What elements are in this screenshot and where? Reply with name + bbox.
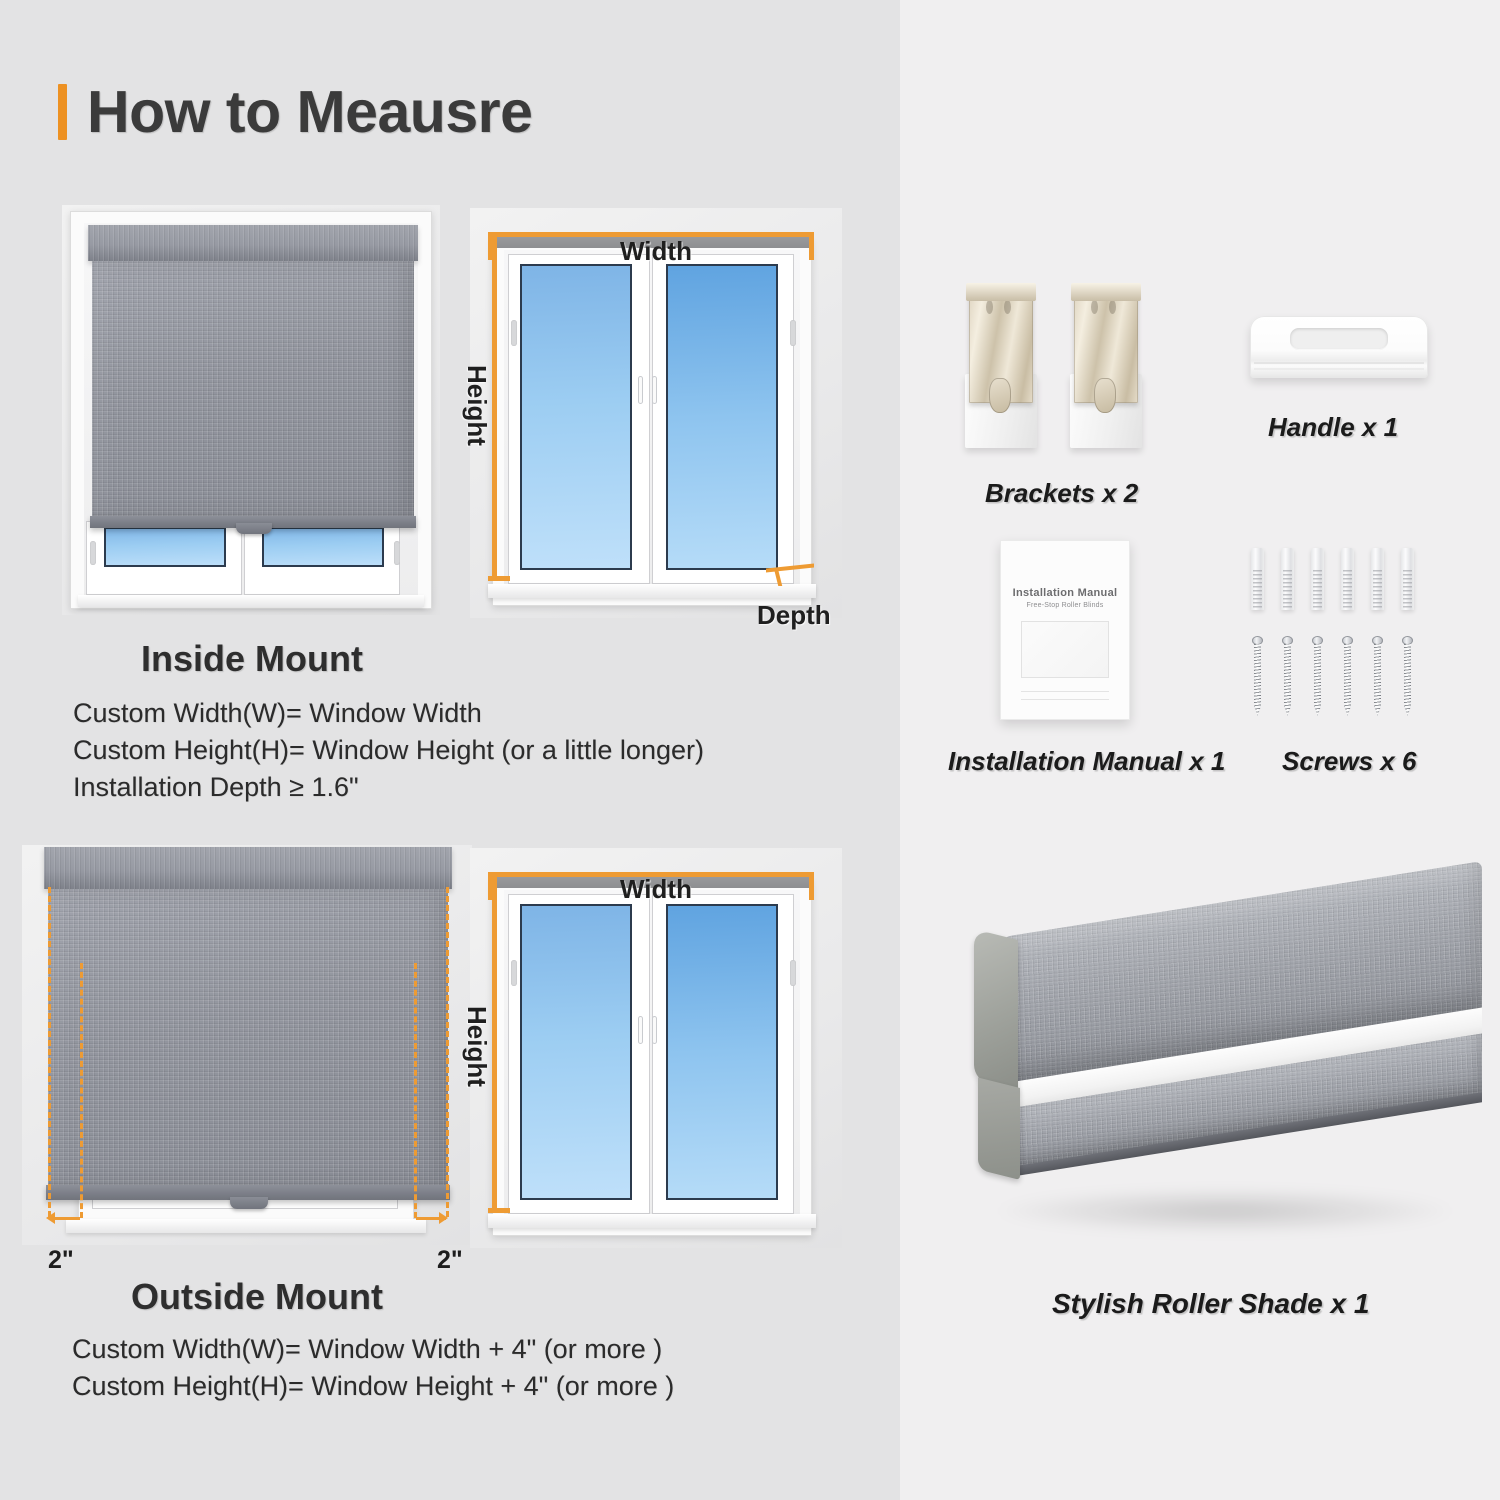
overhang-guide-right-outer (446, 887, 449, 1217)
bracket-item-1 (965, 288, 1037, 448)
manual-cover-title: Installation Manual (1001, 587, 1129, 599)
overhang-guide-right-inner (414, 963, 417, 1218)
label-width-outside: Width (620, 874, 692, 905)
handle-label: Handle x 1 (1268, 412, 1398, 443)
overhang-guide-left-outer (48, 887, 51, 1217)
height-measure-bottom-cap (488, 576, 510, 581)
inside-mount-line-2: Custom Height(H)= Window Height (or a li… (73, 735, 704, 766)
height-measure-line-outside (492, 872, 497, 1212)
handle-item (1250, 316, 1428, 378)
inside-mount-measure-diagram (470, 208, 842, 618)
screws-label: Screws x 6 (1282, 746, 1416, 777)
label-height-inside: Height (461, 365, 492, 446)
label-depth-inside: Depth (757, 600, 831, 631)
outside-mount-measure-diagram (470, 848, 842, 1248)
outside-mount-line-2: Custom Height(H)= Window Height + 4" (or… (72, 1371, 674, 1402)
roller-shade-product-image (960, 910, 1480, 1250)
overhang-guide-left-inner (80, 963, 83, 1218)
label-width-inside: Width (620, 236, 692, 267)
outside-mount-shade-illustration (22, 845, 472, 1245)
inside-mount-title: Inside Mount (141, 638, 363, 680)
label-overhang-left: 2" (48, 1246, 74, 1275)
outside-mount-title: Outside Mount (131, 1276, 383, 1318)
brackets-label: Brackets x 2 (985, 478, 1138, 509)
label-overhang-right: 2" (437, 1246, 463, 1275)
bracket-item-2 (1070, 288, 1142, 448)
outside-mount-line-1: Custom Width(W)= Window Width + 4" (or m… (72, 1334, 662, 1365)
how-to-measure-heading: How to Meausre (58, 78, 532, 146)
package-contents-panel: What's in the package Brackets x 2 Handl… (900, 0, 1500, 1500)
product-infographic: How to Meausre (0, 0, 1500, 1500)
installation-manual-item: Installation Manual Free-Stop Roller Bli… (1000, 540, 1130, 720)
inside-mount-shade-illustration (62, 205, 440, 615)
page-title-left: How to Meausre (87, 78, 532, 146)
how-to-measure-panel: How to Meausre (0, 0, 900, 1500)
screws-item-group (1248, 548, 1428, 723)
width-measure-right-tick (809, 232, 814, 260)
manual-cover-subtitle: Free-Stop Roller Blinds (1001, 602, 1129, 609)
inside-mount-line-1: Custom Width(W)= Window Width (73, 698, 482, 729)
manual-label: Installation Manual x 1 (948, 746, 1225, 777)
inside-mount-line-3: Installation Depth ≥ 1.6" (73, 772, 359, 803)
label-height-outside: Height (461, 1006, 492, 1087)
roller-shade-label: Stylish Roller Shade x 1 (1052, 1288, 1369, 1320)
accent-bar-icon (58, 84, 67, 140)
height-measure-line (492, 232, 497, 580)
